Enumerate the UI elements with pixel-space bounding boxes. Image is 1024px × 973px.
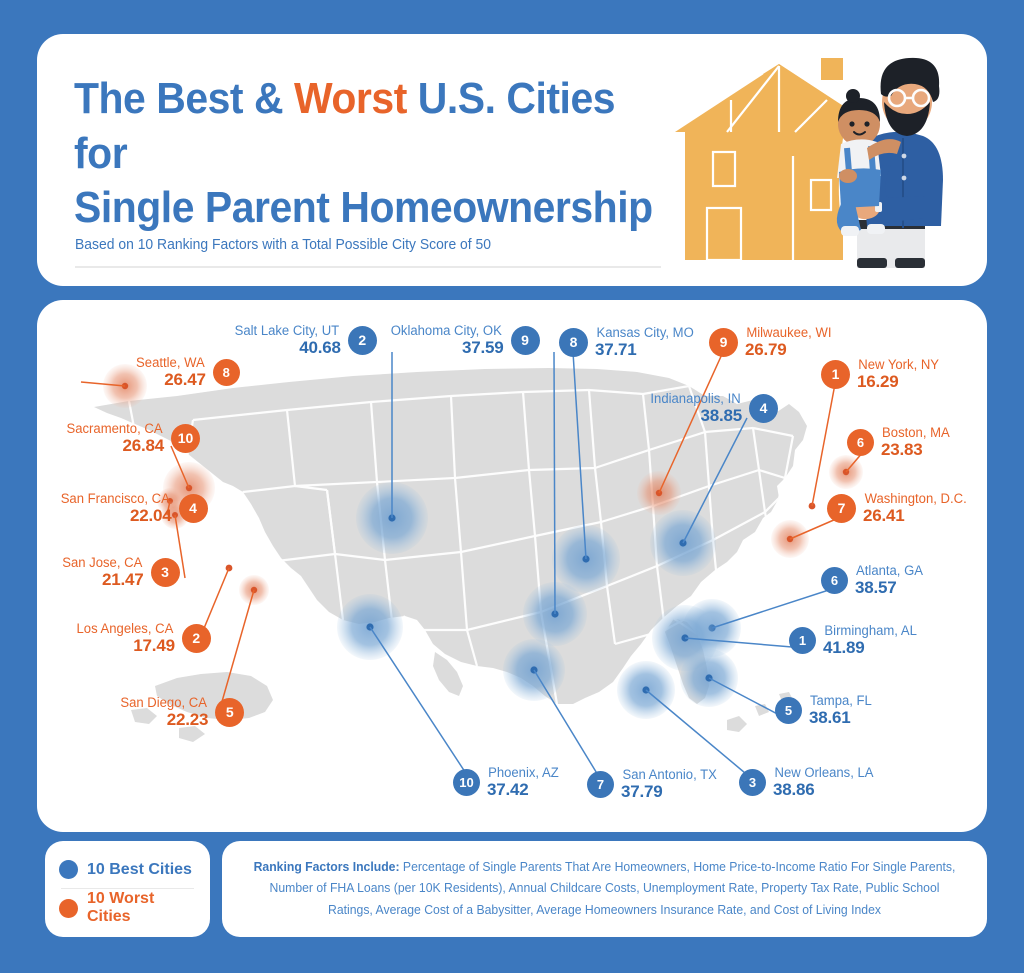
ranking-factors-card: Ranking Factors Include: Percentage of S… bbox=[222, 841, 987, 937]
label-score-san-jose: 21.47 bbox=[102, 571, 144, 589]
rank-badge-milwaukee[interactable]: 9 bbox=[709, 328, 738, 357]
rank-badge-salt-lake-city[interactable]: 2 bbox=[348, 326, 377, 355]
label-city-atlanta: Atlanta, GA bbox=[856, 564, 923, 579]
label-score-los-angeles: 17.49 bbox=[133, 637, 175, 655]
father-child-house-illustration bbox=[671, 44, 981, 286]
map-label-new-orleans[interactable]: 3 New Orleans, LA 38.86 bbox=[739, 766, 875, 799]
label-city-washington-dc: Washington, D.C. bbox=[865, 492, 967, 507]
header-card: The Best & Worst U.S. Cities for Single … bbox=[37, 34, 987, 286]
label-score-atlanta: 38.57 bbox=[855, 579, 897, 597]
label-score-new-orleans: 38.86 bbox=[773, 781, 815, 799]
label-score-san-diego: 22.23 bbox=[167, 711, 209, 729]
map-label-birmingham[interactable]: 1 Birmingham, AL 41.89 bbox=[789, 624, 918, 657]
label-city-oklahoma-city: Oklahoma City, OK bbox=[391, 324, 502, 339]
legend-divider bbox=[61, 888, 194, 889]
map-label-boston[interactable]: 6 Boston, MA 23.83 bbox=[847, 426, 951, 459]
rank-badge-sacramento[interactable]: 10 bbox=[171, 424, 200, 453]
label-city-seattle: Seattle, WA bbox=[136, 356, 205, 371]
label-score-birmingham: 41.89 bbox=[823, 639, 865, 657]
legend-label-best: 10 Best Cities bbox=[87, 861, 192, 879]
map-label-atlanta[interactable]: 6 Atlanta, GA 38.57 bbox=[821, 564, 924, 597]
title-line-2: Single Parent Homeownership bbox=[74, 183, 653, 232]
label-score-tampa: 38.61 bbox=[809, 709, 851, 727]
rank-badge-boston[interactable]: 6 bbox=[847, 429, 874, 456]
label-city-new-york: New York, NY bbox=[858, 358, 939, 373]
label-score-oklahoma-city: 37.59 bbox=[462, 339, 504, 357]
label-city-birmingham: Birmingham, AL bbox=[824, 624, 916, 639]
map-label-indianapolis[interactable]: Indianapolis, IN 38.85 4 bbox=[649, 392, 778, 425]
title-text-part1: The Best & bbox=[74, 74, 294, 123]
map-label-san-diego[interactable]: San Diego, CA 22.23 5 bbox=[119, 696, 244, 729]
rank-badge-san-francisco[interactable]: 4 bbox=[179, 494, 208, 523]
map-label-milwaukee[interactable]: 9 Milwaukee, WI 26.79 bbox=[709, 326, 833, 359]
legend-dot-best-icon bbox=[59, 860, 78, 879]
map-label-new-york[interactable]: 1 New York, NY 16.29 bbox=[821, 358, 940, 391]
leader-oklahomacity bbox=[554, 352, 555, 614]
rank-badge-seattle[interactable]: 8 bbox=[213, 359, 240, 386]
rank-badge-new-york[interactable]: 1 bbox=[821, 360, 850, 389]
label-city-san-diego: San Diego, CA bbox=[120, 696, 207, 711]
rank-badge-birmingham[interactable]: 1 bbox=[789, 627, 816, 654]
legend-dot-worst-icon bbox=[59, 899, 78, 918]
rank-badge-indianapolis[interactable]: 4 bbox=[749, 394, 778, 423]
rank-badge-oklahoma-city[interactable]: 9 bbox=[511, 326, 540, 355]
map-label-tampa[interactable]: 5 Tampa, FL 38.61 bbox=[775, 694, 873, 727]
rank-badge-los-angeles[interactable]: 2 bbox=[182, 624, 211, 653]
ranking-factors-lead: Ranking Factors Include: bbox=[254, 860, 400, 874]
label-city-san-jose: San Jose, CA bbox=[62, 556, 142, 571]
rank-badge-san-antonio[interactable]: 7 bbox=[587, 771, 614, 798]
label-score-washington-dc: 26.41 bbox=[863, 507, 905, 525]
label-city-new-orleans: New Orleans, LA bbox=[775, 766, 874, 781]
label-score-salt-lake-city: 40.68 bbox=[299, 339, 341, 357]
label-city-san-francisco: San Francisco, CA bbox=[61, 492, 170, 507]
label-city-sacramento: Sacramento, CA bbox=[66, 422, 162, 437]
label-score-kansas-city: 37.71 bbox=[595, 341, 637, 359]
map-card: Salt Lake City, UT 40.68 2 Oklahoma City… bbox=[37, 300, 987, 832]
rank-badge-new-orleans[interactable]: 3 bbox=[739, 769, 766, 796]
label-city-milwaukee: Milwaukee, WI bbox=[746, 326, 831, 341]
label-city-indianapolis: Indianapolis, IN bbox=[650, 392, 740, 407]
label-score-phoenix: 37.42 bbox=[487, 781, 529, 799]
map-label-phoenix[interactable]: 10 Phoenix, AZ 37.42 bbox=[453, 766, 560, 799]
label-score-milwaukee: 26.79 bbox=[745, 341, 787, 359]
label-city-boston: Boston, MA bbox=[882, 426, 950, 441]
map-label-seattle[interactable]: Seattle, WA 26.47 8 bbox=[135, 356, 240, 389]
label-score-boston: 23.83 bbox=[881, 441, 923, 459]
label-city-san-antonio: San Antonio, TX bbox=[622, 768, 716, 783]
label-score-san-francisco: 22.04 bbox=[130, 507, 172, 525]
label-score-sacramento: 26.84 bbox=[123, 437, 165, 455]
map-label-oklahoma-city[interactable]: Oklahoma City, OK 37.59 9 bbox=[389, 324, 540, 357]
rank-badge-san-diego[interactable]: 5 bbox=[215, 698, 244, 727]
rank-badge-atlanta[interactable]: 6 bbox=[821, 567, 848, 594]
label-city-los-angeles: Los Angeles, CA bbox=[76, 622, 173, 637]
label-city-salt-lake-city: Salt Lake City, UT bbox=[235, 324, 340, 339]
rank-badge-kansas-city[interactable]: 8 bbox=[559, 328, 588, 357]
map-label-san-jose[interactable]: San Jose, CA 21.47 3 bbox=[61, 556, 180, 589]
map-label-san-francisco[interactable]: San Francisco, CA 22.04 4 bbox=[59, 492, 208, 525]
legend-item-best[interactable]: 10 Best Cities bbox=[59, 853, 196, 886]
rank-badge-tampa[interactable]: 5 bbox=[775, 697, 802, 724]
legend-card: 10 Best Cities 10 Worst Cities bbox=[45, 841, 210, 937]
map-label-sacramento[interactable]: Sacramento, CA 26.84 10 bbox=[65, 422, 200, 455]
label-score-seattle: 26.47 bbox=[164, 371, 206, 389]
title-accent-worst: Worst bbox=[294, 74, 407, 123]
page-subtitle: Based on 10 Ranking Factors with a Total… bbox=[75, 237, 491, 253]
map-label-los-angeles[interactable]: Los Angeles, CA 17.49 2 bbox=[75, 622, 211, 655]
map-label-kansas-city[interactable]: 8 Kansas City, MO 37.71 bbox=[559, 326, 695, 359]
label-city-kansas-city: Kansas City, MO bbox=[597, 326, 694, 341]
label-score-new-york: 16.29 bbox=[857, 373, 899, 391]
legend-label-worst: 10 Worst Cities bbox=[87, 890, 196, 926]
legend-item-worst[interactable]: 10 Worst Cities bbox=[59, 891, 196, 925]
infographic-root: { "colors": { "background": "#3b77bd", "… bbox=[0, 0, 1024, 973]
rank-badge-washington-dc[interactable]: 7 bbox=[827, 494, 856, 523]
map-label-salt-lake-city[interactable]: Salt Lake City, UT 40.68 2 bbox=[233, 324, 377, 357]
label-score-indianapolis: 38.85 bbox=[701, 407, 743, 425]
rank-badge-phoenix[interactable]: 10 bbox=[453, 769, 480, 796]
map-label-san-antonio[interactable]: 7 San Antonio, TX 37.79 bbox=[587, 768, 718, 801]
label-score-san-antonio: 37.79 bbox=[621, 783, 663, 801]
leader-newyork bbox=[812, 384, 835, 506]
rank-badge-san-jose[interactable]: 3 bbox=[151, 558, 180, 587]
header-divider bbox=[75, 266, 661, 268]
ranking-factors-text: Ranking Factors Include: Percentage of S… bbox=[233, 857, 975, 922]
label-city-phoenix: Phoenix, AZ bbox=[488, 766, 559, 781]
label-city-tampa: Tampa, FL bbox=[810, 694, 872, 709]
page-title: The Best & Worst U.S. Cities for Single … bbox=[74, 72, 669, 236]
map-label-washington-dc[interactable]: 7 Washington, D.C. 26.41 bbox=[827, 492, 968, 525]
